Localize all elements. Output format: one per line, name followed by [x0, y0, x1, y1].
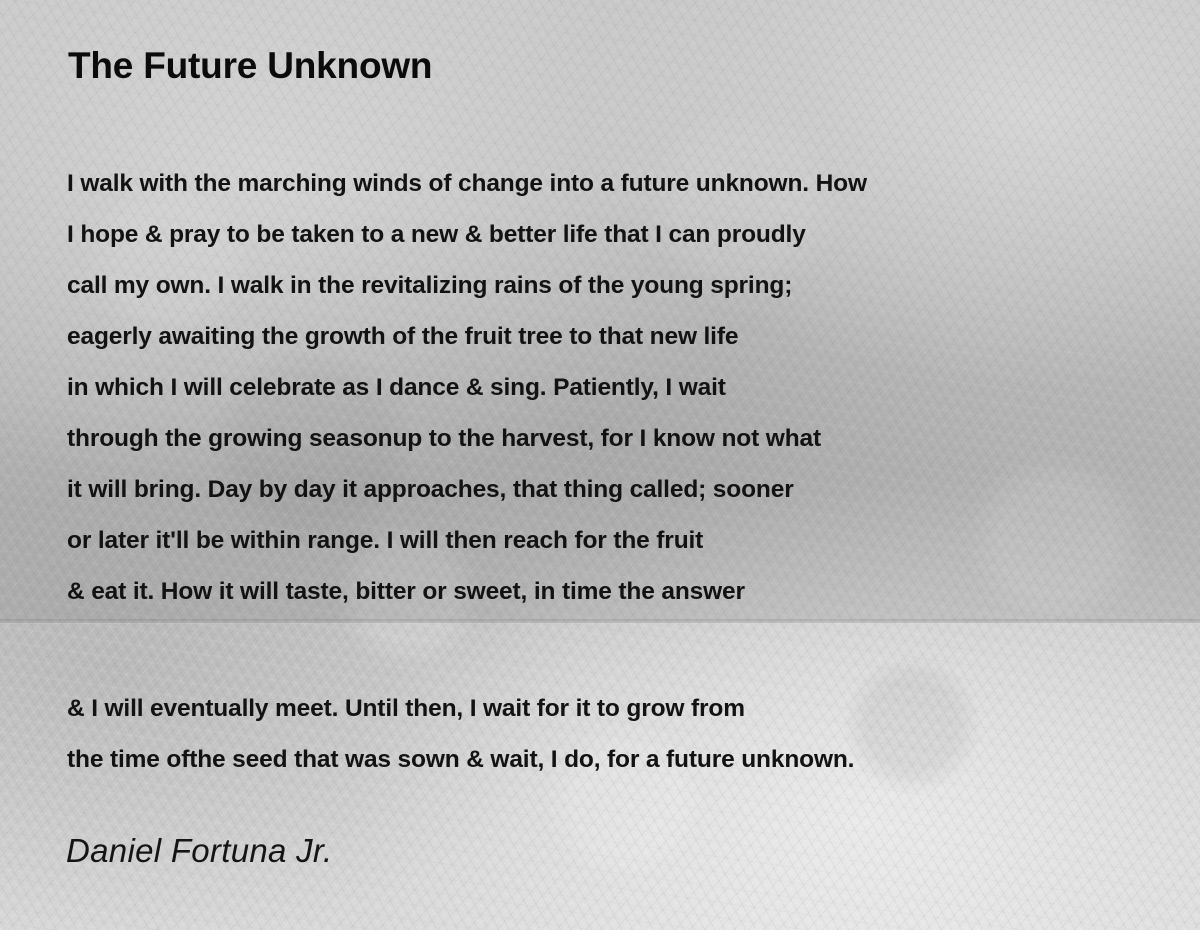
- poem-content: The Future Unknown I walk with the march…: [0, 0, 1200, 930]
- poem-line: through the growing seasonup to the harv…: [67, 413, 867, 464]
- poem-line: or later it'll be within range. I will t…: [67, 515, 867, 566]
- poem-author: Daniel Fortuna Jr.: [66, 832, 332, 870]
- poem-line: call my own. I walk in the revitalizing …: [67, 260, 867, 311]
- poem-card: The Future Unknown I walk with the march…: [0, 0, 1200, 930]
- poem-line: it will bring. Day by day it approaches,…: [67, 464, 867, 515]
- poem-line: I walk with the marching winds of change…: [67, 158, 867, 209]
- poem-stanza-1: I walk with the marching winds of change…: [67, 158, 867, 617]
- poem-stanza-2: & I will eventually meet. Until then, I …: [67, 683, 854, 785]
- poem-line: eagerly awaiting the growth of the fruit…: [67, 311, 867, 362]
- poem-line: I hope & pray to be taken to a new & bet…: [67, 209, 867, 260]
- poem-line: & eat it. How it will taste, bitter or s…: [67, 566, 867, 617]
- poem-title: The Future Unknown: [68, 45, 432, 87]
- poem-line: the time ofthe seed that was sown & wait…: [67, 734, 854, 785]
- poem-line: & I will eventually meet. Until then, I …: [67, 683, 854, 734]
- poem-line: in which I will celebrate as I dance & s…: [67, 362, 867, 413]
